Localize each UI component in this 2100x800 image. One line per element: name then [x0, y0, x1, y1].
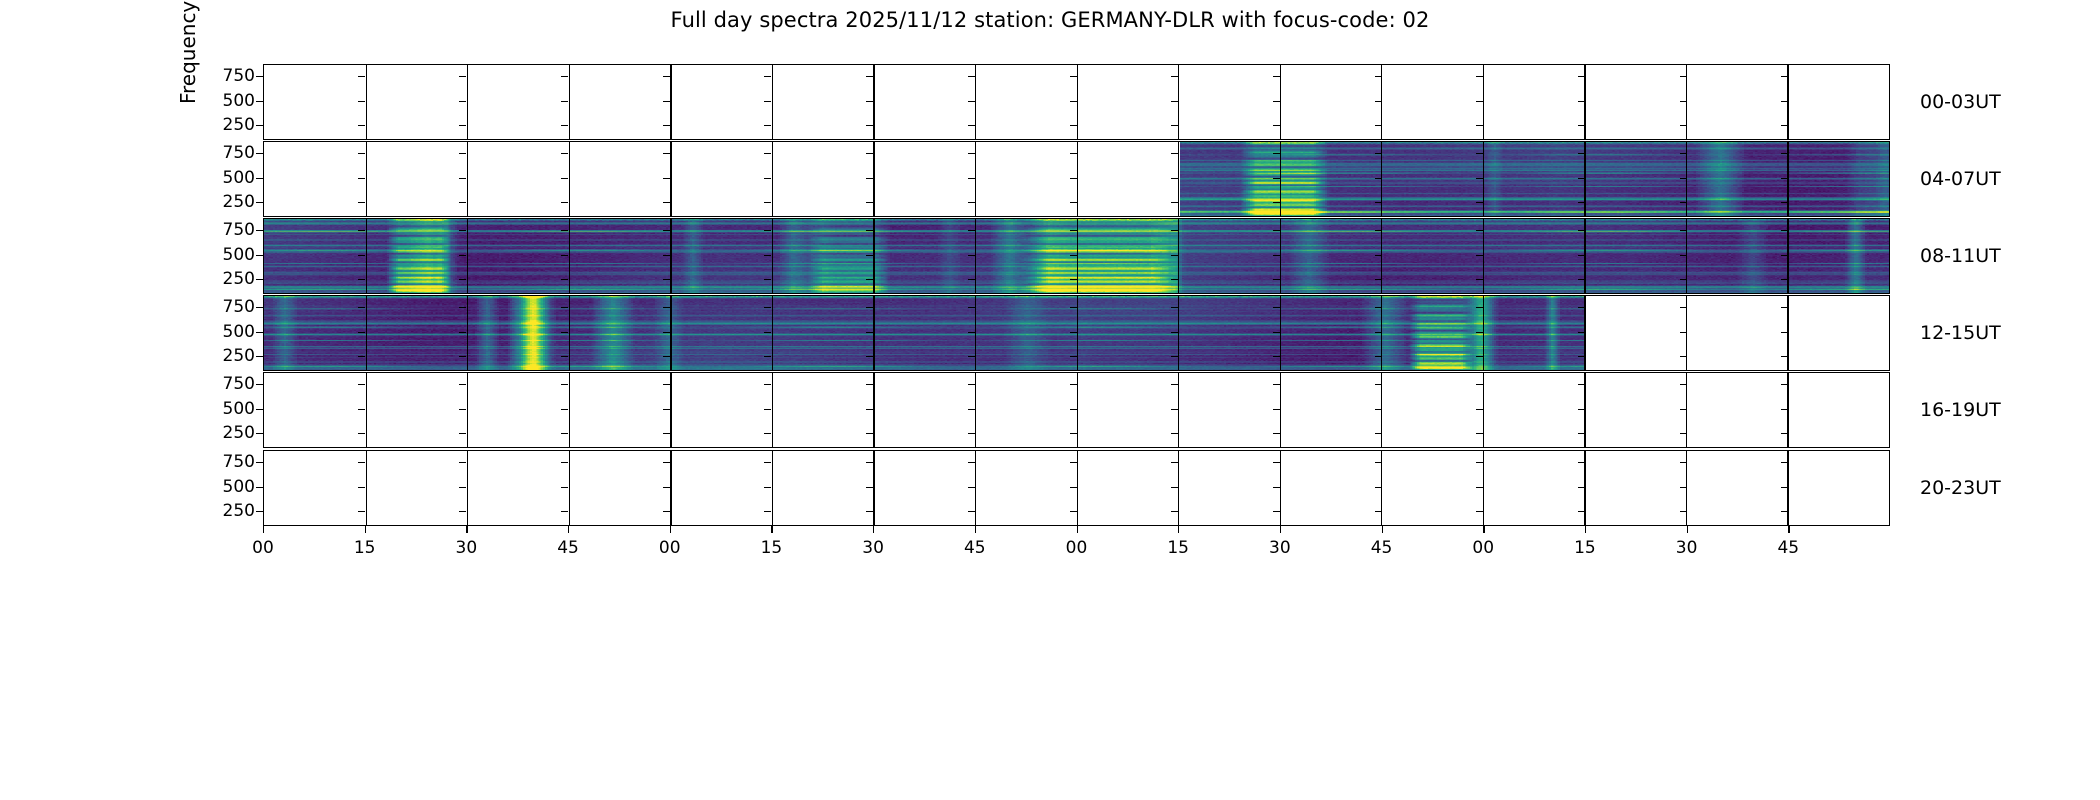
spectrogram-panel-20-23ut[interactable] [263, 450, 1890, 526]
y-tick-mark-interior [1273, 433, 1280, 434]
y-tick-mark-interior [866, 433, 873, 434]
y-tick-label: 500 [163, 399, 255, 419]
y-tick-mark-interior [1476, 384, 1483, 385]
y-tick-mark-interior [866, 356, 873, 357]
y-tick-mark-interior [866, 230, 873, 231]
spectrogram-panel-16-19ut[interactable] [263, 372, 1890, 448]
y-tick-mark-interior [1375, 511, 1382, 512]
y-tick-mark-interior [459, 202, 466, 203]
panel-time-label: 12-15UT [1920, 322, 2001, 344]
y-tick-mark-interior [968, 332, 975, 333]
y-tick-mark-interior [1171, 230, 1178, 231]
x-tick-mark [975, 526, 976, 533]
x-tick-mark [1788, 526, 1789, 533]
y-tick-mark-interior [1171, 178, 1178, 179]
y-tick-mark-interior [358, 433, 365, 434]
y-tick-mark-interior [866, 202, 873, 203]
panel-time-label: 00-03UT [1920, 91, 2001, 113]
x-tick-mark [771, 526, 772, 533]
y-tick-mark-interior [1070, 279, 1077, 280]
y-tick-mark-interior [1476, 255, 1483, 256]
y-tick-mark-interior [1781, 125, 1788, 126]
y-tick-mark-interior [1171, 255, 1178, 256]
panel-separator [873, 219, 874, 293]
panel-separator [873, 451, 874, 525]
y-tick-mark-interior [561, 178, 568, 179]
y-tick-mark-interior [1578, 101, 1585, 102]
panel-separator [1077, 65, 1078, 139]
panel-separator [467, 373, 468, 447]
y-tick-mark-interior [1273, 202, 1280, 203]
y-tick-mark-interior [459, 178, 466, 179]
y-tick-mark-interior [1781, 202, 1788, 203]
y-tick-label: 500 [163, 91, 255, 111]
y-tick-mark-interior [1476, 279, 1483, 280]
y-tick-mark-interior [561, 332, 568, 333]
y-tick-mark-interior [663, 487, 670, 488]
panel-separator [873, 142, 874, 216]
y-tick-mark [256, 76, 263, 77]
y-tick-mark [256, 307, 263, 308]
y-tick-mark-interior [663, 332, 670, 333]
y-tick-mark-interior [561, 125, 568, 126]
y-tick-mark-interior [1375, 487, 1382, 488]
y-tick-mark-interior [1375, 332, 1382, 333]
y-tick-mark-interior [663, 462, 670, 463]
y-tick-mark-interior [968, 125, 975, 126]
y-tick-mark-interior [459, 230, 466, 231]
y-tick-label: 750 [163, 220, 255, 240]
y-tick-mark-interior [663, 153, 670, 154]
x-tick-label: 45 [964, 538, 986, 558]
y-tick-mark-interior [1680, 202, 1687, 203]
y-tick-mark-interior [358, 511, 365, 512]
y-tick-mark-interior [1273, 255, 1280, 256]
y-tick-mark-interior [1070, 332, 1077, 333]
y-tick-mark-interior [358, 307, 365, 308]
y-tick-mark [256, 511, 263, 512]
y-tick-mark-interior [1578, 511, 1585, 512]
y-tick-label: 250 [163, 115, 255, 135]
y-tick-mark-interior [1273, 230, 1280, 231]
y-tick-label: 750 [163, 452, 255, 472]
y-tick-mark-interior [1171, 279, 1178, 280]
y-tick-mark-interior [1781, 462, 1788, 463]
y-tick-label: 750 [163, 297, 255, 317]
y-tick-mark-interior [764, 384, 771, 385]
panel-separator [1178, 451, 1179, 525]
panel-separator [366, 373, 367, 447]
y-tick-mark-interior [1070, 101, 1077, 102]
panel-separator [1077, 219, 1078, 293]
panel-separator [772, 296, 773, 370]
y-tick-mark-interior [1781, 511, 1788, 512]
y-tick-mark-interior [1476, 356, 1483, 357]
y-tick-mark-interior [1578, 307, 1585, 308]
panel-separator [467, 451, 468, 525]
y-tick-mark-interior [459, 384, 466, 385]
y-tick-mark-interior [459, 462, 466, 463]
y-tick-mark-interior [561, 511, 568, 512]
y-tick-mark-interior [1781, 101, 1788, 102]
panel-separator [873, 373, 874, 447]
x-tick-label: 30 [862, 538, 884, 558]
y-tick-mark-interior [1070, 202, 1077, 203]
y-tick-mark [256, 279, 263, 280]
y-tick-mark-interior [1476, 101, 1483, 102]
y-tick-mark-interior [459, 511, 466, 512]
panel-separator [569, 373, 570, 447]
y-tick-mark-interior [968, 255, 975, 256]
x-tick-mark [466, 526, 467, 533]
y-tick-mark-interior [1680, 125, 1687, 126]
x-tick-mark [263, 526, 264, 533]
spectrogram-figure: Full day spectra 2025/11/12 station: GER… [0, 0, 2100, 800]
y-tick-mark-interior [663, 356, 670, 357]
y-tick-mark-interior [1171, 101, 1178, 102]
y-tick-mark-interior [459, 433, 466, 434]
panel-frame [263, 141, 1890, 217]
y-tick-mark-interior [459, 101, 466, 102]
y-tick-mark-interior [1578, 433, 1585, 434]
panel-separator [467, 65, 468, 139]
y-tick-mark-interior [1070, 76, 1077, 77]
y-tick-mark-interior [1070, 230, 1077, 231]
panel-separator [975, 65, 976, 139]
y-tick-mark-interior [663, 101, 670, 102]
panel-separator [975, 296, 976, 370]
panel-separator [670, 451, 671, 525]
y-tick-label: 250 [163, 501, 255, 521]
y-tick-mark-interior [1273, 384, 1280, 385]
x-tick-mark [1483, 526, 1484, 533]
y-tick-mark-interior [764, 511, 771, 512]
panel-separator [366, 65, 367, 139]
y-tick-label: 250 [163, 423, 255, 443]
y-tick-mark-interior [663, 202, 670, 203]
y-tick-mark-interior [1171, 332, 1178, 333]
y-tick-mark-interior [1578, 332, 1585, 333]
x-tick-label: 30 [1676, 538, 1698, 558]
y-tick-mark-interior [1375, 202, 1382, 203]
y-tick-mark-interior [1273, 76, 1280, 77]
y-tick-mark [256, 332, 263, 333]
y-tick-mark-interior [561, 433, 568, 434]
x-tick-label: 15 [1574, 538, 1596, 558]
y-tick-mark-interior [663, 307, 670, 308]
y-tick-mark-interior [764, 409, 771, 410]
x-tick-label: 00 [1066, 538, 1088, 558]
y-tick-mark-interior [1273, 356, 1280, 357]
y-tick-mark-interior [866, 511, 873, 512]
y-tick-mark-interior [1171, 409, 1178, 410]
y-tick-mark-interior [459, 332, 466, 333]
y-tick-label: 500 [163, 168, 255, 188]
panel-separator [366, 451, 367, 525]
y-tick-mark-interior [561, 384, 568, 385]
x-tick-mark [1382, 526, 1383, 533]
y-tick-mark [256, 153, 263, 154]
panel-separator [1077, 296, 1078, 370]
y-tick-mark-interior [866, 307, 873, 308]
y-tick-mark-interior [1375, 76, 1382, 77]
y-tick-mark-interior [866, 332, 873, 333]
y-tick-mark-interior [968, 178, 975, 179]
y-tick-mark-interior [968, 433, 975, 434]
panel-separator [467, 296, 468, 370]
panel-separator [569, 451, 570, 525]
y-tick-mark-interior [1680, 409, 1687, 410]
y-tick-mark-interior [1578, 356, 1585, 357]
panel-separator [1077, 373, 1078, 447]
y-tick-mark-interior [459, 125, 466, 126]
y-tick-mark-interior [1680, 332, 1687, 333]
y-tick-mark-interior [1375, 356, 1382, 357]
y-tick-mark-interior [1680, 307, 1687, 308]
y-tick-mark-interior [1781, 230, 1788, 231]
y-tick-mark-interior [1476, 230, 1483, 231]
y-tick-mark-interior [1476, 125, 1483, 126]
y-tick-mark-interior [1476, 153, 1483, 154]
y-tick-mark-interior [358, 409, 365, 410]
y-tick-mark-interior [1680, 255, 1687, 256]
y-tick-mark-interior [1273, 153, 1280, 154]
y-tick-mark-interior [1680, 76, 1687, 77]
y-tick-mark [256, 230, 263, 231]
y-tick-mark-interior [866, 255, 873, 256]
y-tick-mark-interior [1680, 487, 1687, 488]
y-tick-mark-interior [1070, 384, 1077, 385]
y-tick-mark-interior [1273, 279, 1280, 280]
y-tick-mark-interior [1273, 101, 1280, 102]
y-tick-mark-interior [1171, 511, 1178, 512]
y-tick-mark-interior [459, 153, 466, 154]
y-tick-mark-interior [1171, 433, 1178, 434]
panel-separator [1178, 373, 1179, 447]
y-tick-mark-interior [866, 76, 873, 77]
y-tick-mark-interior [1578, 178, 1585, 179]
panel-separator [366, 219, 367, 293]
y-tick-mark-interior [1578, 125, 1585, 126]
y-tick-mark-interior [1273, 511, 1280, 512]
y-tick-mark-interior [866, 178, 873, 179]
y-tick-mark-interior [1680, 101, 1687, 102]
x-tick-label: 30 [1269, 538, 1291, 558]
spectrogram-panel-08-11ut[interactable] [263, 218, 1890, 294]
y-tick-mark-interior [561, 356, 568, 357]
y-tick-mark-interior [1578, 202, 1585, 203]
panel-separator [1077, 451, 1078, 525]
y-tick-mark [256, 433, 263, 434]
y-tick-mark-interior [663, 255, 670, 256]
y-tick-mark-interior [1781, 356, 1788, 357]
y-tick-mark-interior [764, 279, 771, 280]
y-tick-mark-interior [1578, 279, 1585, 280]
y-tick-mark-interior [561, 279, 568, 280]
spectrogram-panel-00-03ut[interactable] [263, 64, 1890, 140]
page-title: Full day spectra 2025/11/12 station: GER… [0, 8, 2100, 32]
y-tick-mark-interior [1781, 153, 1788, 154]
y-tick-mark-interior [459, 279, 466, 280]
y-tick-mark-interior [764, 202, 771, 203]
panel-separator [772, 142, 773, 216]
x-tick-mark [1280, 526, 1281, 533]
y-tick-mark-interior [1680, 279, 1687, 280]
y-tick-mark-interior [968, 230, 975, 231]
y-tick-mark-interior [1476, 409, 1483, 410]
y-tick-mark-interior [1680, 433, 1687, 434]
y-tick-mark-interior [1680, 511, 1687, 512]
y-tick-mark-interior [1578, 409, 1585, 410]
y-tick-mark-interior [358, 255, 365, 256]
panel-separator [772, 65, 773, 139]
y-tick-mark-interior [1070, 153, 1077, 154]
y-tick-mark-interior [358, 202, 365, 203]
y-tick-mark-interior [1171, 202, 1178, 203]
x-tick-mark [1687, 526, 1688, 533]
y-tick-mark-interior [1680, 462, 1687, 463]
y-tick-mark-interior [1578, 230, 1585, 231]
y-tick-mark-interior [764, 462, 771, 463]
y-tick-mark-interior [663, 433, 670, 434]
y-tick-mark-interior [561, 101, 568, 102]
panel-separator [772, 373, 773, 447]
x-tick-mark [568, 526, 569, 533]
y-tick-mark-interior [1273, 332, 1280, 333]
y-tick-mark [256, 255, 263, 256]
y-tick-mark-interior [1476, 76, 1483, 77]
y-tick-mark-interior [1273, 487, 1280, 488]
x-tick-label: 00 [659, 538, 681, 558]
y-tick-mark-interior [1680, 230, 1687, 231]
y-tick-mark-interior [1680, 384, 1687, 385]
panel-time-label: 04-07UT [1920, 168, 2001, 190]
y-tick-mark-interior [1375, 409, 1382, 410]
y-tick-mark-interior [866, 125, 873, 126]
y-tick-mark-interior [1578, 255, 1585, 256]
x-tick-label: 45 [1371, 538, 1393, 558]
spectrogram-panel-12-15ut[interactable] [263, 295, 1890, 371]
x-tick-label: 15 [1167, 538, 1189, 558]
y-tick-mark [256, 356, 263, 357]
y-tick-mark-interior [1375, 230, 1382, 231]
y-tick-mark-interior [1781, 307, 1788, 308]
y-tick-mark-interior [1273, 125, 1280, 126]
x-tick-mark [365, 526, 366, 533]
y-tick-mark-interior [459, 307, 466, 308]
y-tick-mark-interior [459, 487, 466, 488]
y-tick-mark-interior [663, 384, 670, 385]
y-tick-mark-interior [663, 279, 670, 280]
panel-separator [1178, 296, 1179, 370]
y-tick-mark-interior [1781, 433, 1788, 434]
y-tick-mark-interior [561, 202, 568, 203]
panel-separator [467, 219, 468, 293]
y-tick-mark-interior [1578, 462, 1585, 463]
panel-separator [975, 142, 976, 216]
y-tick-mark-interior [459, 409, 466, 410]
y-tick-mark [256, 384, 263, 385]
y-tick-mark-interior [764, 307, 771, 308]
y-tick-mark-interior [358, 279, 365, 280]
y-tick-mark-interior [1070, 255, 1077, 256]
y-tick-mark-interior [1781, 76, 1788, 77]
y-tick-mark-interior [968, 462, 975, 463]
y-tick-mark-interior [663, 178, 670, 179]
y-tick-mark-interior [1171, 384, 1178, 385]
y-tick-mark-interior [1375, 462, 1382, 463]
y-tick-mark-interior [1070, 178, 1077, 179]
x-tick-label: 00 [1472, 538, 1494, 558]
y-tick-mark-interior [663, 409, 670, 410]
panel-separator [467, 142, 468, 216]
y-tick-mark-interior [1171, 307, 1178, 308]
panel-separator [1178, 65, 1179, 139]
y-tick-mark-interior [459, 255, 466, 256]
y-tick-mark-interior [358, 356, 365, 357]
y-tick-mark-interior [1375, 101, 1382, 102]
y-tick-mark-interior [1476, 202, 1483, 203]
y-tick-mark-interior [764, 433, 771, 434]
y-tick-mark-interior [764, 153, 771, 154]
panel-separator [670, 65, 671, 139]
y-tick-mark-interior [968, 511, 975, 512]
y-tick-mark-interior [663, 125, 670, 126]
panel-time-label: 08-11UT [1920, 245, 2001, 267]
y-tick-mark-interior [561, 307, 568, 308]
panel-separator [975, 451, 976, 525]
y-tick-mark-interior [1781, 279, 1788, 280]
y-tick-mark-interior [968, 76, 975, 77]
panel-separator [569, 219, 570, 293]
y-tick-mark-interior [358, 384, 365, 385]
y-tick-mark-interior [1578, 76, 1585, 77]
y-tick-mark-interior [968, 356, 975, 357]
y-tick-mark-interior [1375, 433, 1382, 434]
y-tick-mark-interior [561, 462, 568, 463]
y-tick-mark-interior [1070, 462, 1077, 463]
panel-frame [263, 295, 1890, 371]
y-tick-mark-interior [1070, 487, 1077, 488]
spectrogram-panel-04-07ut[interactable] [263, 141, 1890, 217]
panel-separator [1077, 142, 1078, 216]
x-tick-mark [1178, 526, 1179, 533]
y-tick-mark-interior [1171, 76, 1178, 77]
y-tick-mark-interior [561, 153, 568, 154]
y-tick-mark-interior [764, 487, 771, 488]
y-tick-mark [256, 487, 263, 488]
y-tick-mark-interior [1476, 487, 1483, 488]
y-tick-label: 750 [163, 143, 255, 163]
y-tick-mark-interior [1375, 125, 1382, 126]
y-tick-mark-interior [1680, 153, 1687, 154]
y-tick-mark-interior [358, 332, 365, 333]
panel-frame [263, 218, 1890, 294]
y-tick-mark-interior [1070, 409, 1077, 410]
panel-separator [873, 296, 874, 370]
y-tick-mark-interior [1273, 462, 1280, 463]
y-tick-mark-interior [968, 101, 975, 102]
y-tick-mark-interior [1070, 307, 1077, 308]
y-tick-mark-interior [1070, 433, 1077, 434]
y-tick-mark-interior [561, 230, 568, 231]
y-tick-label: 500 [163, 322, 255, 342]
x-tick-label: 15 [761, 538, 783, 558]
y-tick-mark [256, 409, 263, 410]
y-tick-mark-interior [358, 76, 365, 77]
y-tick-mark-interior [968, 307, 975, 308]
y-tick-label: 500 [163, 477, 255, 497]
